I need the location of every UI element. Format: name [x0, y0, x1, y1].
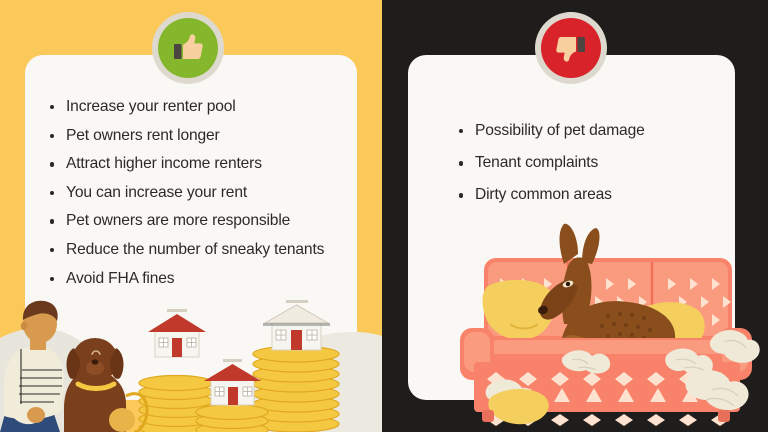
thumbs-down-icon — [541, 18, 601, 78]
list-item: Tenant complaints — [457, 150, 732, 176]
list-item: Attract higher income renters — [48, 151, 353, 177]
house-short — [204, 359, 261, 405]
house-tall — [263, 300, 330, 350]
pros-illustration — [0, 292, 382, 432]
list-item: Avoid FHA fines — [48, 266, 353, 292]
house-mid — [148, 309, 206, 357]
dog-figure — [64, 338, 147, 432]
infographic-root: Increase your renter pool Pet owners ren… — [0, 0, 768, 432]
list-item: Possibility of pet damage — [457, 118, 732, 144]
list-item: Increase your renter pool — [48, 94, 353, 120]
thumbs-up-badge — [152, 12, 224, 84]
cons-list: Possibility of pet damage Tenant complai… — [457, 118, 732, 215]
cons-illustration — [412, 220, 768, 432]
thumbs-down-badge — [535, 12, 607, 84]
coin-stack-short — [196, 405, 268, 432]
list-item: Pet owners rent longer — [48, 123, 353, 149]
list-item: Reduce the number of sneaky tenants — [48, 237, 353, 263]
pros-panel: Increase your renter pool Pet owners ren… — [0, 0, 382, 432]
thumbs-up-icon — [158, 18, 218, 78]
list-item: Pet owners are more responsible — [48, 208, 353, 234]
person-figure — [0, 301, 64, 432]
pros-list: Increase your renter pool Pet owners ren… — [48, 94, 353, 294]
cons-panel: Possibility of pet damage Tenant complai… — [382, 0, 768, 432]
list-item: Dirty common areas — [457, 182, 732, 208]
list-item: You can increase your rent — [48, 180, 353, 206]
